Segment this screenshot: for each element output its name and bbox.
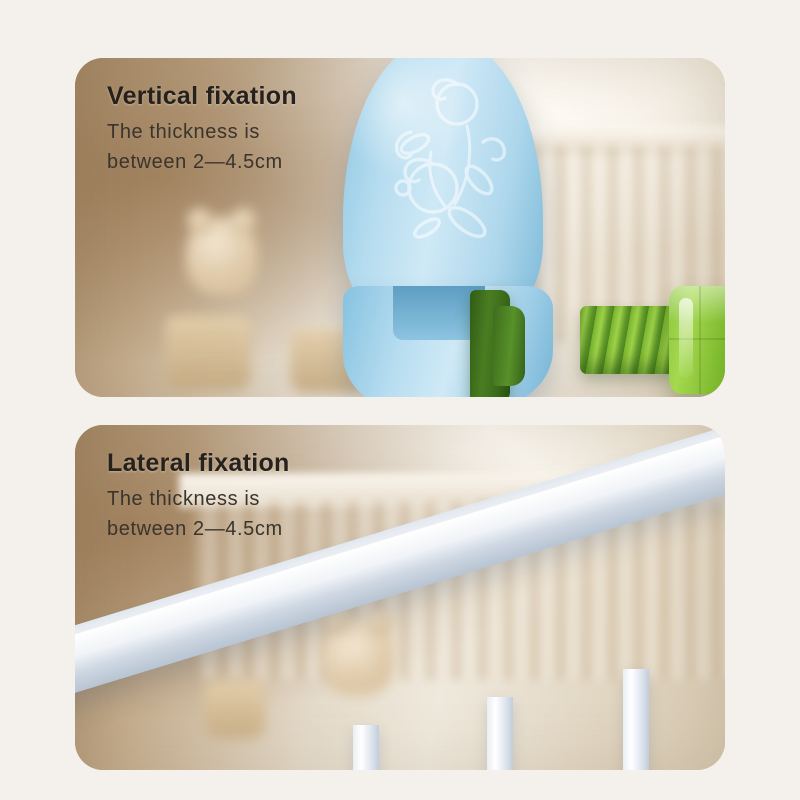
panel-title: Vertical fixation (107, 82, 297, 111)
panel-line-1: The thickness is (107, 484, 290, 514)
panel-title: Lateral fixation (107, 449, 290, 478)
crib-spindle (353, 725, 379, 770)
floral-emboss-icon (371, 70, 521, 260)
panel-lateral-fixation[interactable]: Lateral fixation The thickness is betwee… (75, 425, 725, 770)
panel-vertical-fixation[interactable]: Vertical fixation The thickness is betwe… (75, 58, 725, 397)
panel-line-2: between 2—4.5cm (107, 147, 297, 177)
green-threaded-shaft (580, 306, 676, 374)
crib-spindle (487, 697, 513, 770)
knob-facet (699, 286, 701, 394)
panel-line-1: The thickness is (107, 117, 297, 147)
dark-green-screw-cap (493, 306, 525, 386)
panel-line-2: between 2—4.5cm (107, 514, 290, 544)
knob-facet (669, 338, 725, 340)
caption-lateral: Lateral fixation The thickness is betwee… (107, 449, 290, 544)
product-feature-stage: Vertical fixation The thickness is betwe… (0, 0, 800, 800)
caption-vertical: Vertical fixation The thickness is betwe… (107, 82, 297, 177)
crib-spindle (623, 669, 649, 770)
green-hex-thumbscrew-knob[interactable] (669, 286, 725, 394)
